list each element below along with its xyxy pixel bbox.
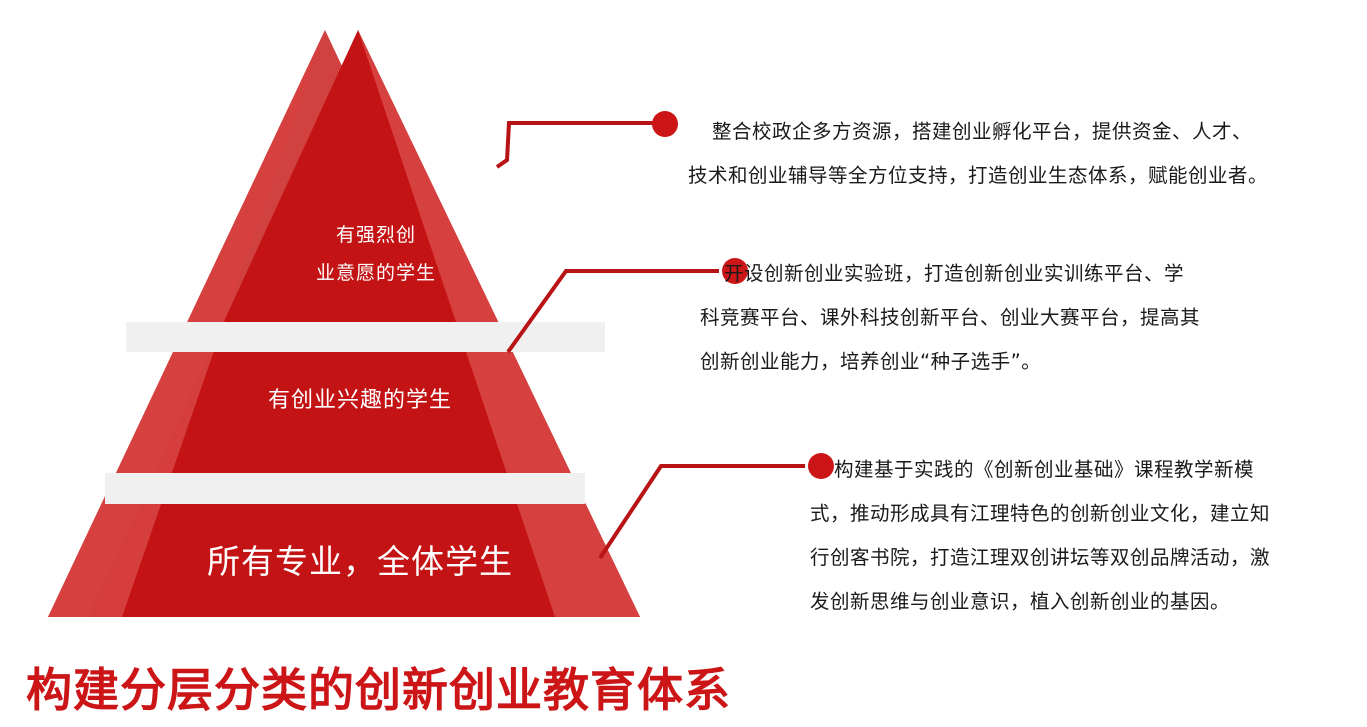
- pyramid-divider-upper: [126, 322, 605, 352]
- callout-line: 整合校政企多方资源，搭建创业孵化平台，提供资金、人才、: [688, 110, 1348, 154]
- callout-line: 行创客书院，打造江理双创讲坛等双创品牌活动，激: [810, 536, 1367, 580]
- callout-text-top: 整合校政企多方资源，搭建创业孵化平台，提供资金、人才、技术和创业辅导等全方位支持…: [688, 110, 1348, 198]
- callout-line: 科竞赛平台、课外科技创新平台、创业大赛平台，提高其: [700, 296, 1340, 340]
- callout-line: 发创新思维与创业意识，植入创新创业的基因。: [810, 580, 1367, 624]
- callout-text-middle: 开设创新创业实验班，打造创新创业实训练平台、学科竞赛平台、课外科技创新平台、创业…: [700, 252, 1340, 384]
- callout-line: 技术和创业辅导等全方位支持，打造创业生态体系，赋能创业者。: [688, 154, 1348, 198]
- callout-line: 创新创业能力，培养创业“种子选手”。: [700, 340, 1340, 384]
- callout-line: 开设创新创业实验班，打造创新创业实训练平台、学: [700, 252, 1340, 296]
- callout-line: 式，推动形成具有江理特色的创新创业文化，建立知: [810, 492, 1367, 536]
- pyramid-divider-lower: [105, 473, 585, 504]
- page-title: 构建分层分类的创新创业教育体系: [26, 654, 731, 720]
- slide-canvas: 有强烈创业意愿的学生 有创业兴趣的学生 所有专业，全体学生 整合校政企多方资源，…: [0, 0, 1367, 727]
- callout-line: 构建基于实践的《创新创业基础》课程教学新模: [810, 448, 1367, 492]
- callout-text-bottom: 构建基于实践的《创新创业基础》课程教学新模式，推动形成具有江理特色的创新创业文化…: [810, 448, 1367, 624]
- pyramid-diagram: [0, 0, 700, 640]
